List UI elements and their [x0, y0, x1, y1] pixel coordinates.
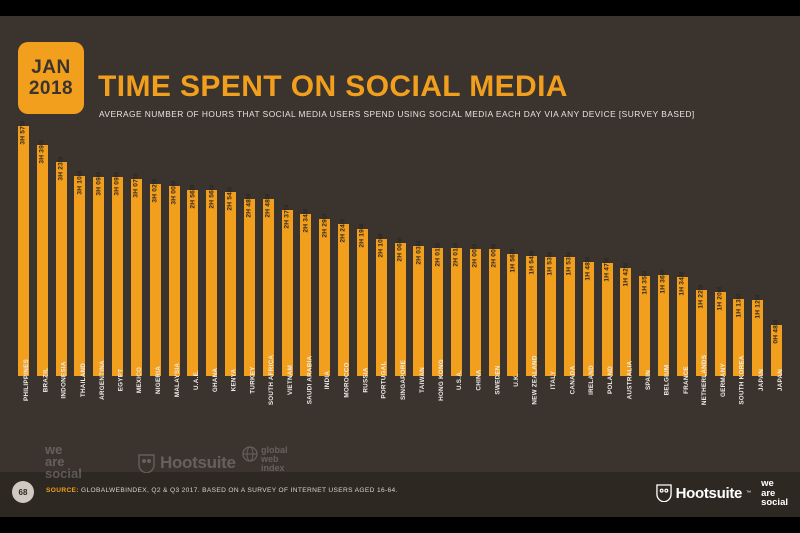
bar-value-text: 2H 56M: [189, 185, 196, 209]
bar-value-text: 3H 02M: [152, 178, 159, 202]
hootsuite-owl-icon: [656, 484, 672, 502]
bar-value-text: 3H 09M: [95, 171, 102, 195]
bar-value-label: 2H 34M: [300, 217, 311, 269]
bar-value-label: 3H 09M: [93, 180, 104, 232]
letterbox-top: [0, 0, 800, 16]
letterbox-bottom: [0, 517, 800, 533]
axis-label-france: FRANCE: [677, 378, 688, 446]
bar-poland: 1H 47M: [602, 263, 613, 376]
bar-russia: 2H 19M: [357, 229, 368, 376]
bar-value-text: 2H 19M: [359, 224, 366, 248]
axis-label-belgium: BELGIUM: [658, 378, 669, 446]
axis-label-egypt: EGYPT: [112, 378, 123, 446]
badge-month: JAN: [31, 58, 71, 77]
bar-value-text: 1H 56M: [509, 248, 516, 272]
bar-value-text: 2H 01M: [434, 243, 441, 267]
bar-value-text: 2H 54M: [227, 187, 234, 211]
watermark-hootsuite-text: Hootsuite: [160, 453, 236, 473]
bar-u-k: 1H 56M: [507, 254, 518, 376]
axis-label-turkey: TURKEY: [244, 378, 255, 446]
bar-turkey: 2H 48M: [244, 199, 255, 376]
source-label: SOURCE:: [46, 487, 79, 494]
bar-value-text: 2H 48M: [265, 193, 272, 217]
watermark-gwi-text: globalwebindex: [261, 446, 288, 473]
bar-value-text: 2H 37M: [284, 205, 291, 229]
bar-value-text: 2H 01M: [453, 243, 460, 267]
bar-ghana: 2H 56M: [206, 190, 217, 376]
header: JAN 2018 TIME SPENT ON SOCIAL MEDIA AVER…: [0, 16, 800, 122]
axis-label-russia: RUSSIA: [357, 378, 368, 446]
bar-value-text: 1H 48M: [585, 256, 592, 280]
bar-value-text: 2H 10M: [378, 233, 385, 257]
bar-value-text: 2H 06M: [397, 237, 404, 261]
bar-south-africa: 2H 48M: [263, 199, 274, 376]
axis-label-china: CHINA: [470, 378, 481, 446]
bar-saudi-arabia: 2H 34M: [300, 214, 311, 376]
source-note: SOURCE: GLOBALWEBINDEX, Q2 & Q3 2017. BA…: [46, 487, 398, 494]
bar-value-text: 1H 53M: [547, 251, 554, 275]
bar-value-label: 3H 09M: [112, 180, 123, 232]
axis-label-canada: CANADA: [564, 378, 575, 446]
bar-value-label: 2H 56M: [206, 193, 217, 245]
watermark-hootsuite: Hootsuite: [138, 453, 236, 473]
bar-mexico: 3H 07M: [131, 179, 142, 376]
bar-value-label: 2H 06M: [395, 246, 406, 298]
bar-value-text: 2H 48M: [246, 193, 253, 217]
bar-value-label: 2H 56M: [187, 193, 198, 245]
bar-value-label: 3H 02M: [150, 187, 161, 239]
axis-label-indonesia: INDONESIA: [56, 378, 67, 446]
bar-value-text: 1H 22M: [698, 284, 705, 308]
bar-value-text: 2H 00M: [491, 244, 498, 268]
bar-value-label: 1H 53M: [564, 260, 575, 312]
bar-value-text: 2H 24M: [340, 218, 347, 242]
bar-value-text: 3H 09M: [114, 171, 121, 195]
bar-value-text: 3H 00M: [171, 180, 178, 204]
bar-value-label: 2H 01M: [451, 251, 462, 303]
bar-value-text: 1H 47M: [604, 257, 611, 281]
axis-label-germany: GERMANY: [715, 378, 726, 446]
bar-value-label: 3H 00M: [169, 189, 180, 241]
bar-value-label: 2H 10M: [376, 242, 387, 294]
bar-value-label: 3H 57M: [18, 129, 29, 181]
bar-hong-kong: 2H 01M: [432, 248, 443, 376]
bar-value-label: 2H 48M: [244, 202, 255, 254]
axis-label-u-k: U.K.: [507, 378, 518, 446]
axis-label-taiwan: TAIWAN: [413, 378, 424, 446]
bar-value-label: 2H 24M: [338, 227, 349, 279]
infographic-slide: JAN 2018 TIME SPENT ON SOCIAL MEDIA AVER…: [0, 0, 800, 533]
bar-value-label: 1H 54M: [526, 259, 537, 311]
bar-value-text: 2H 56M: [208, 185, 215, 209]
bar-value-label: 1H 47M: [602, 266, 613, 318]
bar-value-text: 1H 12M: [754, 294, 761, 318]
axis-label-australia: AUSTRALIA: [620, 378, 631, 446]
bar-nigeria: 3H 02M: [150, 184, 161, 376]
plot-area: 3H 57M3H 39M3H 23M3H 10M3H 09M3H 09M3H 0…: [14, 126, 786, 376]
bar-malaysia: 3H 00M: [169, 186, 180, 376]
bar-egypt: 3H 09M: [112, 177, 123, 376]
bar-value-label: 3H 39M: [37, 148, 48, 200]
bar-value-label: 1H 48M: [583, 265, 594, 317]
watermark-globalwebindex: globalwebindex: [242, 446, 288, 473]
bar-value-text: 1H 53M: [566, 251, 573, 275]
axis-label-new-zealand: NEW ZEALAND: [526, 378, 537, 446]
bar-value-label: 2H 01M: [432, 251, 443, 303]
bar-u-a-e: 2H 56M: [187, 190, 198, 376]
bar-value-text: 2H 03M: [415, 241, 422, 265]
bar-value-text: 3H 23M: [58, 156, 65, 180]
trademark-symbol: ™: [746, 490, 751, 496]
axis-label-kenya: KENYA: [225, 378, 236, 446]
axis-label-text: JAPAN: [777, 369, 800, 391]
bar-value-label: 2H 00M: [489, 252, 500, 304]
axis-label-portugal: PORTUGAL: [376, 378, 387, 446]
axis-label-brazil: BRAZIL: [37, 378, 48, 446]
bar-thailand: 3H 10M: [74, 176, 85, 376]
bar-value-label: 2H 54M: [225, 195, 236, 247]
axis-label-netherlands: NETHERLANDS: [696, 378, 707, 446]
bar-value-text: 1H 20M: [717, 286, 724, 310]
axis-label-u-s-a: U.S.A.: [451, 378, 462, 446]
bar-value-text: 1H 54M: [528, 250, 535, 274]
bar-value-text: 1H 13M: [735, 293, 742, 317]
bar-kenya: 2H 54M: [225, 192, 236, 376]
hootsuite-logo-text: Hootsuite: [676, 485, 742, 502]
bar-argentina: 3H 09M: [93, 177, 104, 376]
axis-label-spain: SPAIN: [639, 378, 650, 446]
bar-india: 2H 29M: [319, 219, 330, 376]
bar-value-label: 2H 37M: [282, 213, 293, 265]
bar-indonesia: 3H 23M: [56, 162, 67, 376]
axis-label-ghana: GHANA: [206, 378, 217, 446]
page-number: 68: [12, 481, 34, 503]
bar-value-label: 2H 03M: [413, 249, 424, 301]
bar-value-label: 1H 22M: [696, 293, 707, 345]
axis-label-mexico: MEXICO: [131, 378, 142, 446]
bar-brazil: 3H 39M: [37, 145, 48, 376]
bar-china: 2H 00M: [470, 249, 481, 376]
axis-label-ireland: IRELAND: [583, 378, 594, 446]
hootsuite-logo: Hootsuite ™: [656, 484, 751, 502]
bar-chart: wearesocial Hootsuite globalwebindex 3H …: [0, 126, 800, 376]
bar-sweden: 2H 00M: [489, 249, 500, 376]
footer-logos: Hootsuite ™ we are social: [656, 479, 788, 508]
bar-value-label: 1H 42M: [620, 271, 631, 323]
we-are-social-logo: we are social: [761, 479, 788, 508]
source-text: GLOBALWEBINDEX, Q2 & Q3 2017. BASED ON A…: [81, 487, 398, 494]
bar-value-text: 1H 34M: [679, 271, 686, 295]
axis-label-hong-kong: HONG KONG: [432, 378, 443, 446]
axis-label-singapore: SINGAPORE: [395, 378, 406, 446]
bar-vietnam: 2H 37M: [282, 210, 293, 376]
bar-value-label: 1H 36M: [658, 278, 669, 330]
bar-value-text: 3H 57M: [20, 120, 27, 144]
badge-year: 2018: [29, 79, 73, 98]
bar-portugal: 2H 10M: [376, 239, 387, 376]
axis-label-poland: POLAND: [602, 378, 613, 446]
bar-value-text: 1H 42M: [622, 263, 629, 287]
bar-value-label: 1H 13M: [733, 302, 744, 354]
bar-value-text: 1H 35M: [641, 270, 648, 294]
bar-value-label: 3H 23M: [56, 165, 67, 217]
axis-label-saudi-arabia: SAUDI ARABIA: [300, 378, 311, 446]
page-title: TIME SPENT ON SOCIAL MEDIA: [98, 70, 568, 104]
axis-label-nigeria: NIGERIA: [150, 378, 161, 446]
footer: 68 SOURCE: GLOBALWEBINDEX, Q2 & Q3 2017.…: [0, 472, 800, 517]
bar-value-label: 1H 56M: [507, 257, 518, 309]
bar-value-label: 2H 29M: [319, 222, 330, 274]
bar-value-text: 3H 10M: [76, 170, 83, 194]
bar-u-s-a: 2H 01M: [451, 248, 462, 376]
bar-value-text: 0H 48M: [773, 320, 780, 344]
bar-value-label: 2H 19M: [357, 232, 368, 284]
bar-philippines: 3H 57M: [18, 126, 29, 376]
bar-taiwan: 2H 03M: [413, 246, 424, 376]
bar-value-text: 2H 29M: [321, 213, 328, 237]
axis-label-south-africa: SOUTH AFRICA: [263, 378, 274, 446]
axis-label-thailand: THAILAND: [74, 378, 85, 446]
bar-value-text: 2H 00M: [472, 244, 479, 268]
axis-label-malaysia: MALAYSIA: [169, 378, 180, 446]
bar-morocco: 2H 24M: [338, 224, 349, 376]
axis-label-morocco: MOROCCO: [338, 378, 349, 446]
bar-value-text: 3H 07M: [133, 173, 140, 197]
bar-value-text: 2H 34M: [302, 208, 309, 232]
axis-label-south-korea: SOUTH KOREA: [733, 378, 744, 446]
axis-label-italy: ITALY: [545, 378, 556, 446]
bar-value-label: 3H 07M: [131, 182, 142, 234]
page-subtitle: AVERAGE NUMBER OF HOURS THAT SOCIAL MEDI…: [99, 109, 695, 119]
axis-label-india: INDIA: [319, 378, 330, 446]
category-axis-labels: PHILIPPINESBRAZILINDONESIATHAILANDARGENT…: [14, 378, 786, 446]
bar-value-label: 1H 12M: [752, 303, 763, 355]
axis-label-sweden: SWEDEN: [489, 378, 500, 446]
bar-value-label: 2H 48M: [263, 202, 274, 254]
bar-value-text: 1H 36M: [660, 269, 667, 293]
axis-label-argentina: ARGENTINA: [93, 378, 104, 446]
axis-label-philippines: PHILIPPINES: [18, 378, 29, 446]
hootsuite-owl-icon: [138, 454, 155, 473]
bar-value-label: 1H 53M: [545, 260, 556, 312]
bar-value-label: 1H 35M: [639, 279, 650, 331]
bar-value-text: 3H 39M: [39, 139, 46, 163]
bar-value-label: 2H 00M: [470, 252, 481, 304]
axis-label-vietnam: VIETNAM: [282, 378, 293, 446]
bar-singapore: 2H 06M: [395, 243, 406, 376]
bar-value-label: 3H 10M: [74, 179, 85, 231]
bar-value-label: 1H 34M: [677, 280, 688, 332]
bar-value-label: 1H 20M: [715, 295, 726, 347]
axis-label-japan: JAPAN: [752, 378, 763, 446]
axis-label-japan: JAPAN: [771, 378, 782, 446]
date-badge: JAN 2018: [18, 42, 84, 114]
was-line-3: social: [761, 498, 788, 508]
globe-icon: [242, 446, 258, 462]
axis-label-u-a-e: U.A.E.: [187, 378, 198, 446]
